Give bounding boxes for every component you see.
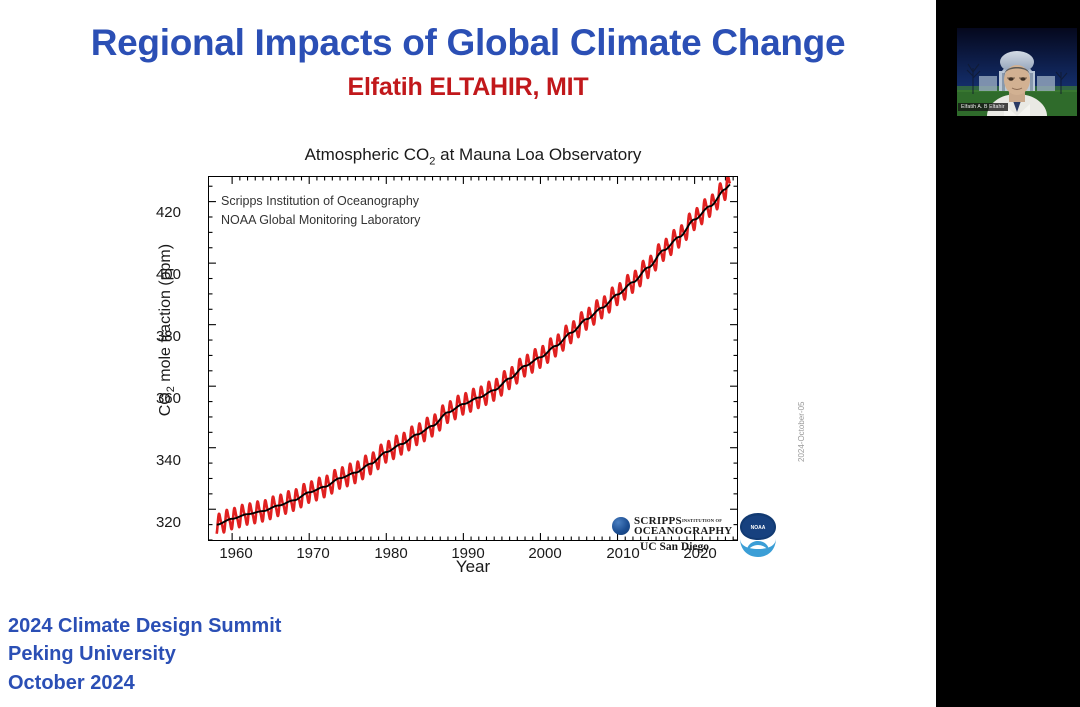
co2-seasonal-line [217,177,730,534]
chart-date-stamp: 2024-October-05 [797,402,806,462]
y-tick-380: 380 [121,328,181,345]
footer-event: 2024 Climate Design Summit [8,612,508,640]
scripps-word-institution: INSTITUTION OF [682,518,722,523]
y-tick-420: 420 [121,204,181,221]
page-title: Regional Impacts of Global Climate Chang… [0,22,936,64]
footer-date: October 2024 [8,669,508,697]
video-sidebar: Elfatih A. B Eltahir [936,0,1080,707]
x-tick-1990: 1990 [433,545,503,562]
footer-venue: Peking University [8,640,508,668]
x-tick-2000: 2000 [510,545,580,562]
chart-annotation: Scripps Institution of Oceanography NOAA… [221,192,420,230]
globe-icon [612,517,630,535]
chart-title: Atmospheric CO2 at Mauna Loa Observatory [208,145,738,167]
participant-name-label: Elfatih A. B Eltahir [958,103,1008,111]
x-tick-1960: 1960 [201,545,271,562]
chart-title-pre: Atmospheric CO [305,145,430,164]
y-tick-320: 320 [121,514,181,531]
participant-video-tile[interactable]: Elfatih A. B Eltahir [957,28,1077,116]
noaa-logo: NOAA [738,512,778,558]
y-tick-400: 400 [121,266,181,283]
co2-plot-svg [209,177,737,540]
noaa-seal-icon: NOAA [738,512,778,558]
presenter-name: Elfatih ELTAHIR, MIT [0,73,936,102]
logo-group: SCRIPPSINSTITUTION OF OCEANOGRAPHY UC Sa… [612,512,777,560]
annotation-line-2: NOAA Global Monitoring Laboratory [221,211,420,230]
chart-title-post: at Mauna Loa Observatory [435,145,641,164]
co2-trend-line [217,184,730,524]
slide-footer: 2024 Climate Design Summit Peking Univer… [8,612,508,697]
y-tick-340: 340 [121,452,181,469]
presentation-slide: Regional Impacts of Global Climate Chang… [0,0,936,707]
scripps-wordmark-3: UC San Diego [640,541,709,553]
axis-ticks [209,177,737,540]
y-tick-360: 360 [121,390,181,407]
x-tick-1970: 1970 [278,545,348,562]
scripps-wordmark-2: OCEANOGRAPHY [634,525,732,537]
slide-screen: Regional Impacts of Global Climate Chang… [0,0,1080,707]
plot-area: Scripps Institution of Oceanography NOAA… [208,176,738,541]
scripps-logo: SCRIPPSINSTITUTION OF OCEANOGRAPHY UC Sa… [612,514,724,558]
x-tick-1980: 1980 [356,545,426,562]
co2-chart: Atmospheric CO2 at Mauna Loa Observatory… [145,145,785,590]
svg-text:NOAA: NOAA [751,525,766,531]
annotation-line-1: Scripps Institution of Oceanography [221,192,420,211]
